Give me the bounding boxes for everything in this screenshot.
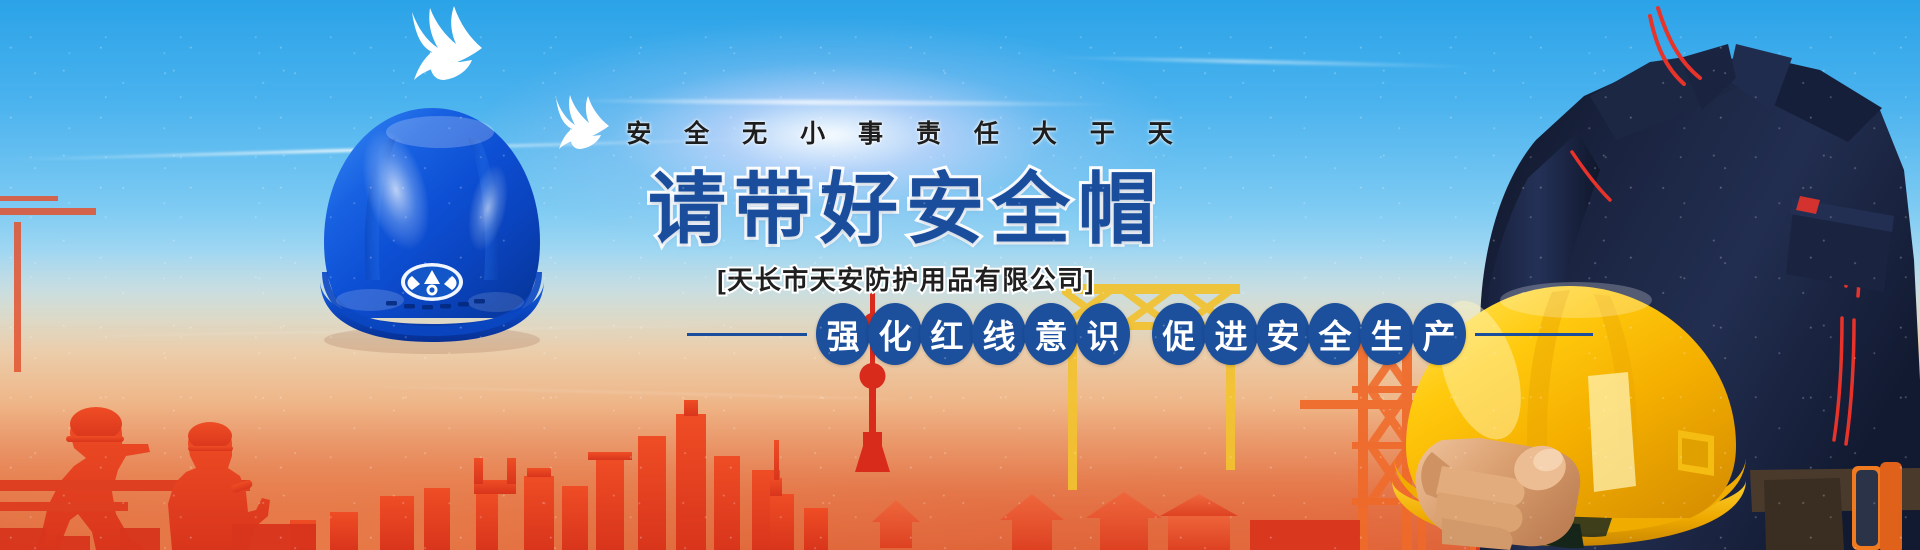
- blue-safety-helmet: [300, 104, 565, 356]
- rule-right: [1475, 333, 1593, 336]
- city-skyline: [290, 400, 828, 550]
- slogan-char-badge: 线: [972, 303, 1026, 365]
- slogan-char-badge: 促: [1152, 303, 1206, 365]
- slogan-group-2: 促进安全生产: [1153, 303, 1465, 365]
- beam-rail: [0, 480, 250, 491]
- helmet-logo: [401, 263, 463, 301]
- slogan-char-badge: 生: [1360, 303, 1414, 365]
- slogan-char-badge: 全: [1308, 303, 1362, 365]
- construction-worker-seated: [168, 422, 270, 550]
- safety-banner: 安 全 无 小 事 责 任 大 于 天 请带好安全帽 [天长市天安防护用品有限公…: [0, 0, 1920, 550]
- slogan-char-badge: 产: [1412, 303, 1466, 365]
- dove-upper-left-icon: [412, 6, 482, 80]
- slogan-char-badge: 意: [1024, 303, 1078, 365]
- gripping-hand: [1416, 438, 1581, 550]
- slogan-char-badge: 安: [1256, 303, 1310, 365]
- slogan-char-badge: 进: [1204, 303, 1258, 365]
- slogan-group-1: 强化红线意识: [817, 303, 1129, 365]
- worker-in-navy-uniform: [1180, 0, 1920, 550]
- tower-crane-left: [0, 196, 96, 372]
- light-streak: [560, 98, 1120, 107]
- slogan-char-badge: 识: [1076, 303, 1130, 365]
- slogan-char-badge: 强: [816, 303, 870, 365]
- company-name: [天长市天安防护用品有限公司]: [596, 260, 1216, 297]
- headline-text-block: 安 全 无 小 事 责 任 大 于 天 请带好安全帽 [天长市天安防护用品有限公…: [596, 122, 1216, 297]
- slogan-char-badge: 化: [868, 303, 922, 365]
- tool-belt: [1750, 462, 1920, 550]
- main-headline: 请带好安全帽: [596, 169, 1216, 250]
- rule-left: [687, 333, 807, 336]
- construction-worker-kneeling: [36, 407, 150, 550]
- ridge-line: [380, 386, 900, 401]
- slogan-badge-row: 强化红线意识 促进安全生产: [540, 298, 1740, 370]
- slogan-char-badge: 红: [920, 303, 974, 365]
- sub-headline: 安 全 无 小 事 责 任 大 于 天: [596, 122, 1216, 147]
